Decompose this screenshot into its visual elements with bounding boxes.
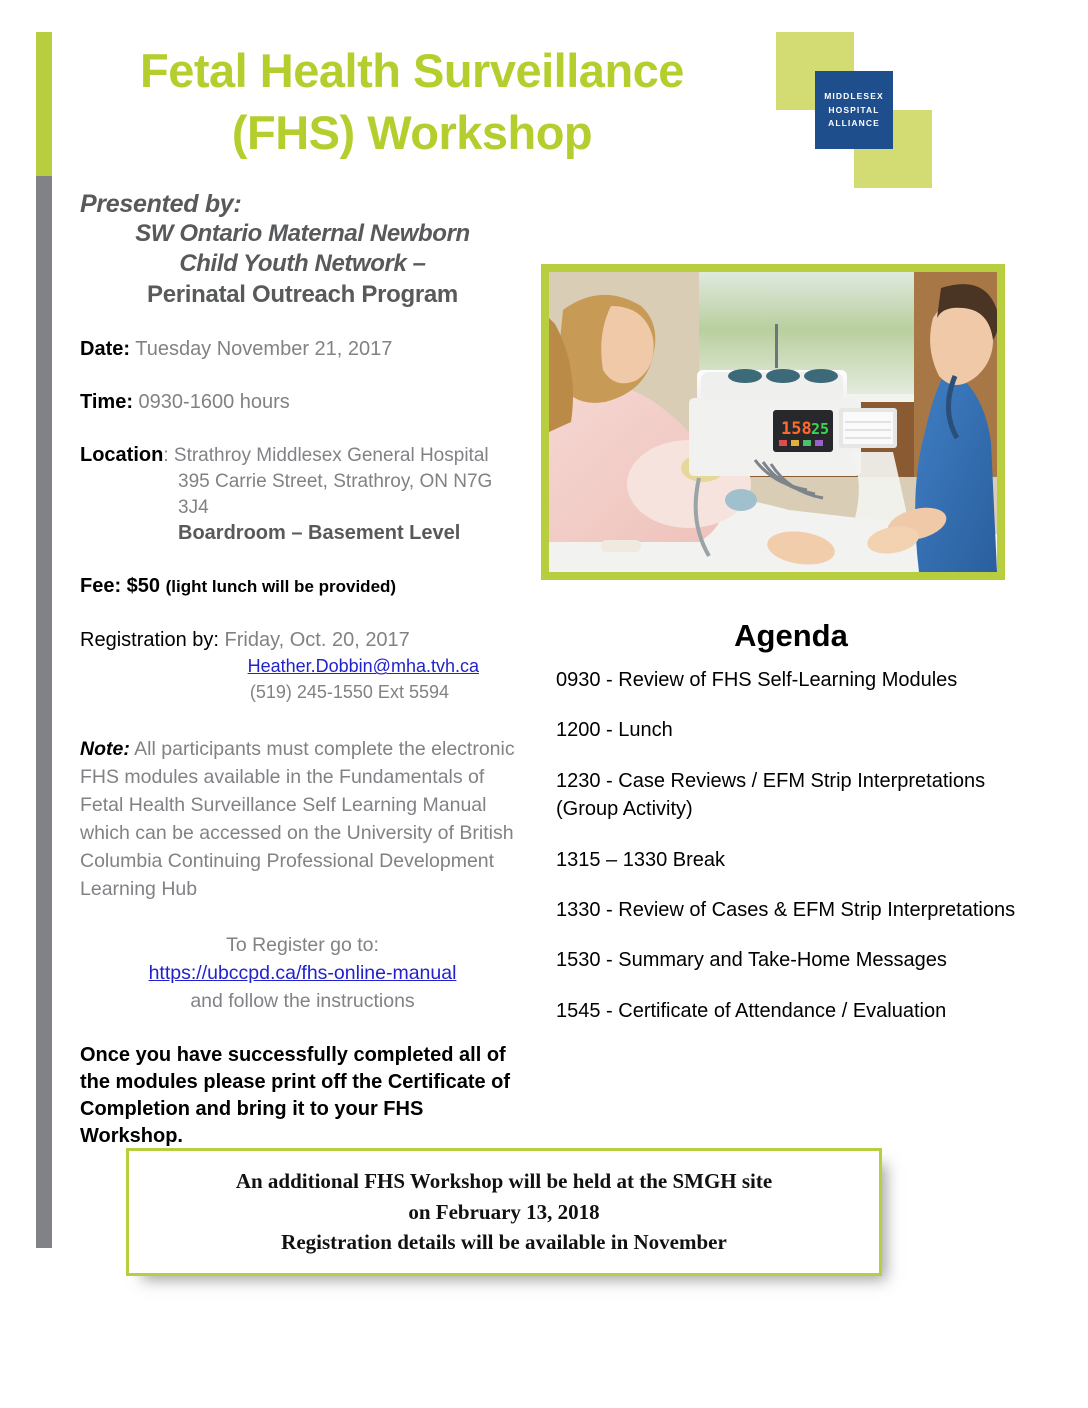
notice-line-2: on February 13, 2018 — [236, 1197, 772, 1227]
organization-line-1: SW Ontario Maternal Newborn — [84, 219, 521, 249]
registration-email-link[interactable]: Heather.Dobbin@mha.tvh.ca — [80, 654, 525, 679]
location-field: Location: Strathroy Middlesex General Ho… — [80, 442, 525, 547]
additional-workshop-notice-box: An additional FHS Workshop will be held … — [126, 1148, 882, 1276]
agenda-heading: Agenda — [556, 618, 1026, 654]
organization-line-3: Perinatal Outreach Program — [84, 279, 521, 310]
left-accent-bar-gray — [36, 176, 52, 1248]
note-body: All participants must complete the elect… — [80, 738, 515, 900]
location-line-3: Boardroom – Basement Level — [80, 520, 525, 547]
middlesex-hospital-alliance-logo: MIDDLESEX HOSPITAL ALLIANCE — [776, 32, 956, 212]
register-trail-text: and follow the instructions — [190, 990, 414, 1012]
notice-line-1: An additional FHS Workshop will be held … — [236, 1166, 772, 1196]
agenda-item: 1545 - Certificate of Attendance / Evalu… — [556, 997, 1026, 1025]
svg-text:158: 158 — [781, 419, 812, 439]
location-colon: : — [163, 445, 174, 466]
organization-line-2: Child Youth Network – — [84, 249, 521, 279]
event-details-column: Presented by: SW Ontario Maternal Newbor… — [80, 190, 525, 1150]
registration-label: Registration by: — [80, 629, 219, 651]
location-line-1: Strathroy Middlesex General Hospital — [174, 445, 489, 466]
page-title-line-2: (FHS) Workshop — [92, 102, 732, 164]
agenda-item: 1230 - Case Reviews / EFM Strip Interpre… — [556, 767, 1026, 824]
photo-illustration: 158 25 — [549, 272, 997, 572]
time-label: Time: — [80, 391, 133, 413]
presented-by-label: Presented by: — [80, 190, 525, 219]
location-first-row: Location: Strathroy Middlesex General Ho… — [80, 442, 525, 469]
note-label: Note: — [80, 738, 130, 760]
fetal-monitoring-photo: 158 25 — [549, 272, 997, 572]
note-paragraph: Note: All participants must complete the… — [80, 735, 525, 903]
how-to-register-block: To Register go to: https://ubccpd.ca/fhs… — [80, 931, 525, 1015]
fee-note: (light lunch will be provided) — [166, 577, 396, 596]
agenda-section: Agenda 0930 - Review of FHS Self-Learnin… — [556, 618, 1026, 1047]
date-field: Date: Tuesday November 21, 2017 — [80, 336, 525, 363]
agenda-item: 1200 - Lunch — [556, 716, 1026, 744]
registration-field: Registration by: Friday, Oct. 20, 2017 H… — [80, 626, 525, 704]
page-title: Fetal Health Surveillance (FHS) Workshop — [92, 40, 732, 164]
logo-blue-block: MIDDLESEX HOSPITAL ALLIANCE — [815, 71, 893, 149]
agenda-item: 0930 - Review of FHS Self-Learning Modul… — [556, 666, 1026, 694]
agenda-item: 1315 – 1330 Break — [556, 846, 1026, 874]
register-url-link[interactable]: https://ubccpd.ca/fhs-online-manual — [80, 959, 525, 987]
registration-phone: (519) 245-1550 Ext 5594 — [80, 680, 525, 705]
photo-frame: 158 25 — [541, 264, 1005, 580]
svg-text:25: 25 — [811, 420, 829, 438]
agenda-item: 1330 - Review of Cases & EFM Strip Inter… — [556, 896, 1026, 924]
fee-field: Fee: $50 (light lunch will be provided) — [80, 575, 525, 598]
date-label: Date: — [80, 338, 130, 360]
fee-label: Fee: $50 — [80, 575, 160, 597]
time-value: 0930-1600 hours — [139, 391, 290, 413]
page-title-line-1: Fetal Health Surveillance — [92, 40, 732, 102]
agenda-item: 1530 - Summary and Take-Home Messages — [556, 946, 1026, 974]
location-label: Location — [80, 444, 163, 466]
final-instruction-text: Once you have successfully completed all… — [80, 1042, 525, 1150]
presenting-organization: SW Ontario Maternal Newborn Child Youth … — [80, 219, 525, 310]
logo-text-alliance: ALLIANCE — [828, 119, 880, 128]
left-accent-bar-green — [36, 32, 52, 176]
notice-line-3: Registration details will be available i… — [236, 1227, 772, 1257]
time-field: Time: 0930-1600 hours — [80, 389, 525, 416]
register-lead-text: To Register go to: — [226, 934, 379, 956]
registration-deadline: Friday, Oct. 20, 2017 — [225, 629, 410, 651]
date-value: Tuesday November 21, 2017 — [135, 338, 392, 360]
logo-text-hospital: HOSPITAL — [828, 106, 879, 115]
location-line-2: 395 Carrie Street, Strathroy, ON N7G 3J4 — [80, 469, 525, 520]
logo-text-middlesex: MIDDLESEX — [824, 92, 884, 101]
notice-text: An additional FHS Workshop will be held … — [236, 1166, 772, 1257]
